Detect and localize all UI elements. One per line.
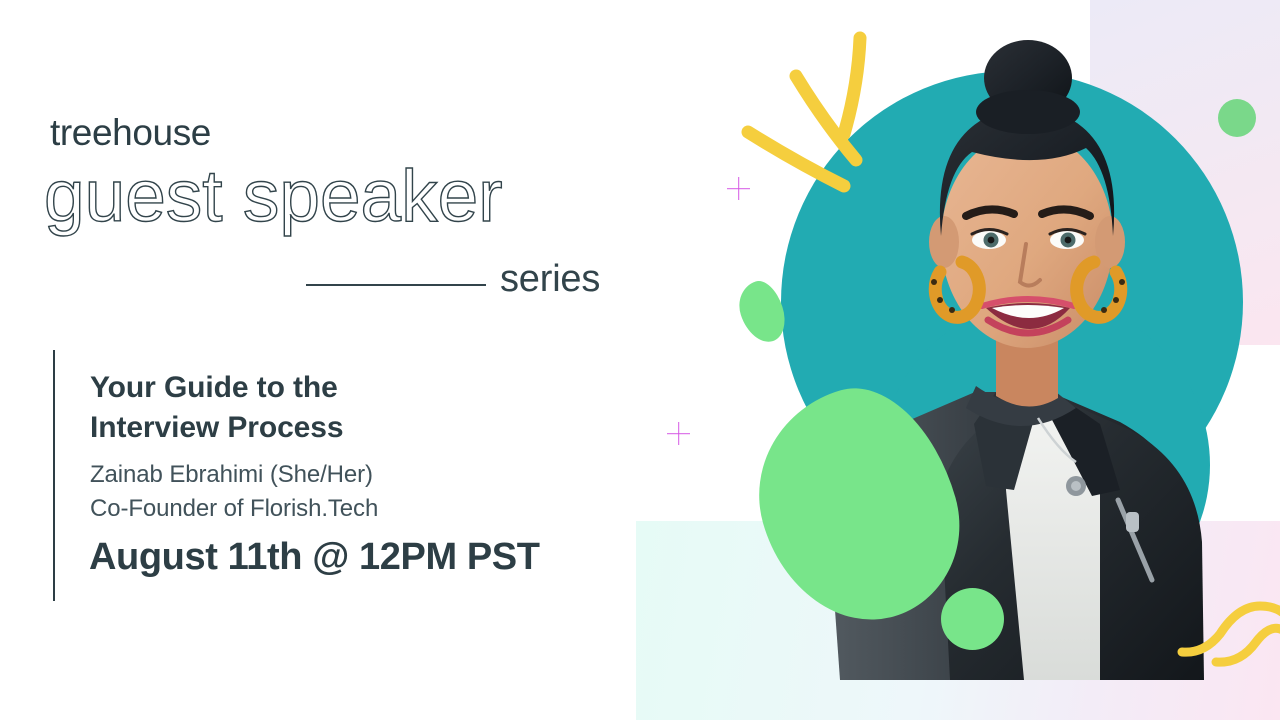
plus-mark-icon-middle <box>667 422 690 445</box>
series-word: series <box>500 258 600 301</box>
series-kicker-outline-text: guest speaker <box>44 160 503 233</box>
speaker-role: Co-Founder of Florish.Tech <box>90 495 378 523</box>
brand-logo-text: treehouse <box>50 112 211 154</box>
series-divider-rule <box>306 284 486 286</box>
vertical-accent-rule <box>53 350 55 601</box>
yellow-waves-icon <box>1160 580 1280 690</box>
event-datetime: August 11th @ 12PM PST <box>89 536 540 579</box>
green-circle-bottom-icon <box>941 588 1004 650</box>
series-word-row: series <box>306 258 626 308</box>
promo-slide: treehouse guest speaker series Your Guid… <box>0 0 1280 720</box>
plus-mark-icon-top <box>727 177 750 200</box>
talk-title: Your Guide to the Interview Process <box>90 368 343 448</box>
yellow-rays-icon <box>740 30 910 230</box>
speaker-name: Zainab Ebrahimi (She/Her) <box>90 461 373 489</box>
